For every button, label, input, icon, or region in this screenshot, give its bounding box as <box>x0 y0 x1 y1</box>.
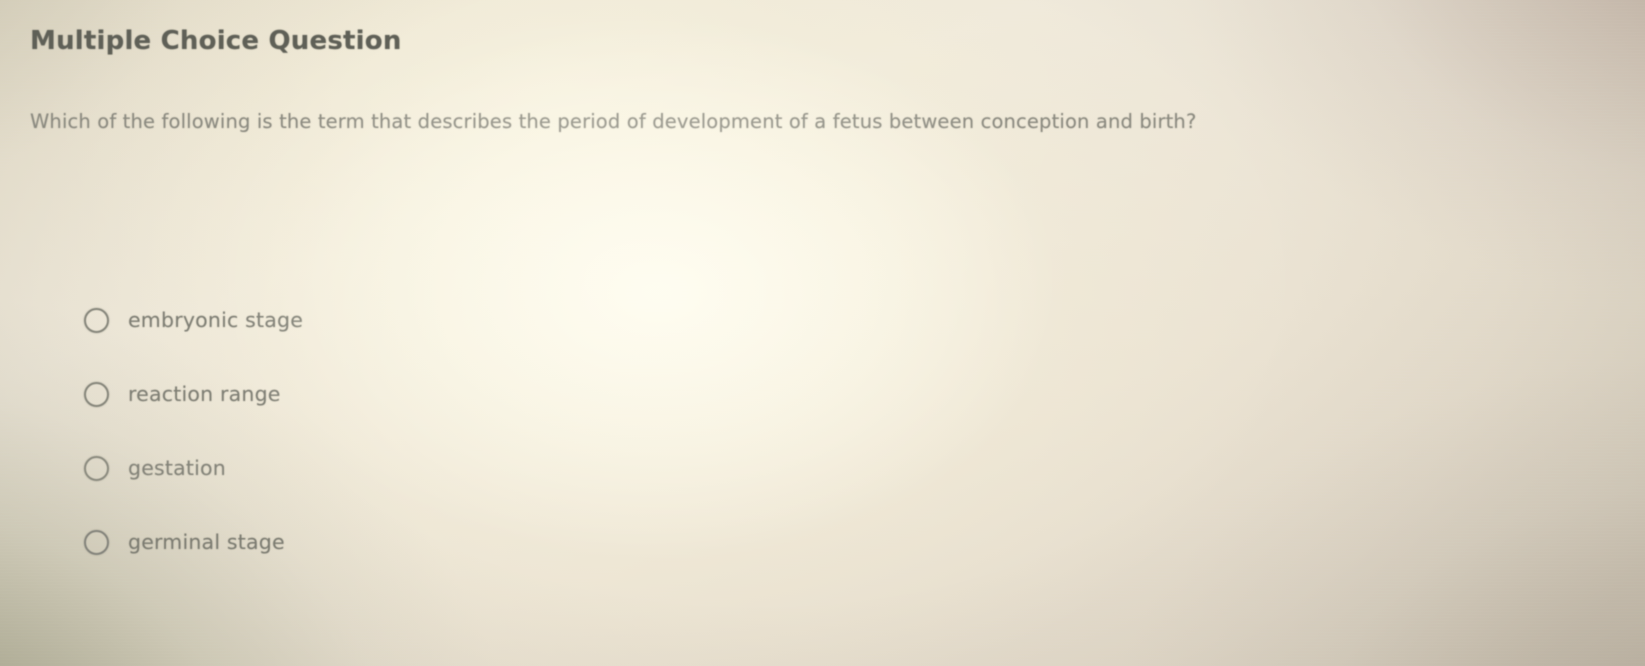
answer-option-label: embryonic stage <box>128 308 303 332</box>
answer-option-d[interactable]: germinal stage <box>0 505 1645 579</box>
answer-option-b[interactable]: reaction range <box>0 357 1645 431</box>
quiz-screen: Multiple Choice Question Which of the fo… <box>0 0 1645 666</box>
radio-unchecked-icon[interactable] <box>84 308 109 333</box>
radio-unchecked-icon[interactable] <box>84 456 109 481</box>
answer-option-a[interactable]: embryonic stage <box>0 283 1645 357</box>
radio-unchecked-icon[interactable] <box>84 382 109 407</box>
answer-option-label: reaction range <box>128 382 281 406</box>
page-title: Multiple Choice Question <box>30 26 402 56</box>
answer-option-label: germinal stage <box>128 530 285 554</box>
question-prompt: Which of the following is the term that … <box>30 110 1196 133</box>
radio-unchecked-icon[interactable] <box>84 530 109 555</box>
answer-option-c[interactable]: gestation <box>0 431 1645 505</box>
question-content: Multiple Choice Question Which of the fo… <box>0 0 1645 666</box>
answer-option-label: gestation <box>128 456 226 480</box>
answer-options-list: embryonic stage reaction range gestation… <box>0 283 1645 579</box>
